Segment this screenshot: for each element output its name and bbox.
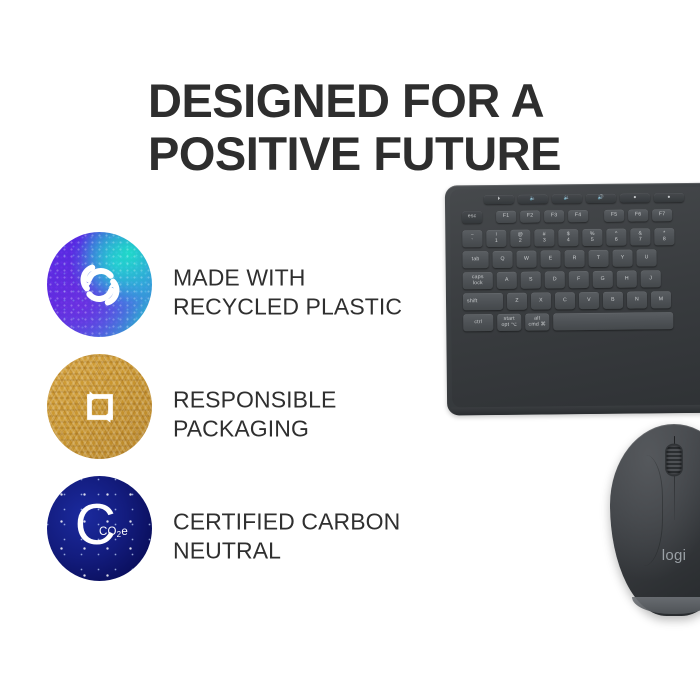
co2e-subscript: 2	[117, 530, 122, 539]
key-shift-left[interactable]: shift	[463, 293, 503, 310]
keyboard-modifier-row: ctrl startopt ⌥ altcmd ⌘	[463, 312, 673, 331]
keyboard-deck: ⏵ 🔈 🔉 🔊 ● ● esc F1 F2 F3 F4 F5 F6	[450, 186, 700, 407]
key-2[interactable]: @2	[510, 230, 530, 247]
co2e-suffix: e	[121, 526, 128, 538]
product-photo: ⏵ 🔈 🔉 🔊 ● ● esc F1 F2 F3 F4 F5 F6	[440, 176, 700, 646]
key-6[interactable]: ^6	[606, 229, 626, 246]
feature-label-certified-carbon-neutral: CERTIFIED CARBON NEUTRAL	[173, 508, 400, 567]
scroll-wheel[interactable]	[667, 445, 682, 475]
keyboard-bottom-letter-row: shift Z X C V B N M	[463, 291, 671, 310]
keyboard-front-edge	[451, 404, 700, 415]
key-x[interactable]: X	[531, 292, 551, 309]
key-b[interactable]: B	[603, 292, 623, 309]
feature-item-responsible-packaging: RESPONSIBLE PACKAGING	[47, 354, 447, 476]
feature-item-certified-carbon-neutral: C CO2e CERTIFIED CARBON NEUTRAL	[47, 476, 447, 598]
co2e-label: CO2e	[99, 526, 128, 538]
key-media-mute[interactable]: 🔈	[518, 194, 548, 203]
key-m[interactable]: M	[651, 291, 671, 308]
feature-label-recycled-plastic: MADE WITH RECYCLED PLASTIC	[173, 264, 402, 323]
key-5[interactable]: %5	[582, 229, 602, 246]
key-media-volup[interactable]: 🔊	[586, 194, 616, 203]
key-e[interactable]: E	[540, 250, 560, 267]
key-g[interactable]: G	[593, 271, 613, 288]
key-f6[interactable]: F6	[628, 209, 648, 221]
key-alt-cmd[interactable]: altcmd ⌘	[525, 313, 549, 330]
key-a[interactable]: A	[497, 272, 517, 289]
key-1[interactable]: !1	[486, 230, 506, 247]
key-z[interactable]: Z	[507, 293, 527, 310]
key-4[interactable]: $4	[558, 229, 578, 246]
feature-label-responsible-packaging: RESPONSIBLE PACKAGING	[173, 386, 336, 445]
key-w[interactable]: W	[516, 251, 536, 268]
keyboard-home-row: capslock A S D F G H J	[463, 270, 661, 289]
key-r[interactable]: R	[564, 250, 584, 267]
key-c[interactable]: C	[555, 292, 575, 309]
co2e-prefix: CO	[99, 526, 117, 538]
key-start-opt[interactable]: startopt ⌥	[497, 314, 521, 331]
key-media-play[interactable]: ⏵	[484, 195, 514, 204]
recycled-plastic-loop-icon	[47, 232, 152, 337]
key-f2[interactable]: F2	[520, 211, 540, 223]
key-f4[interactable]: F4	[568, 210, 588, 222]
keyboard-qwerty-row: tab Q W E R T Y U	[462, 249, 656, 268]
wireless-keyboard: ⏵ 🔈 🔉 🔊 ● ● esc F1 F2 F3 F4 F5 F6	[445, 182, 700, 415]
key-spacebar[interactable]	[553, 312, 673, 330]
key-u[interactable]: U	[636, 249, 656, 266]
key-3[interactable]: #3	[534, 229, 554, 246]
key-s[interactable]: S	[521, 272, 541, 289]
key-v[interactable]: V	[579, 292, 599, 309]
keyboard-media-row: ⏵ 🔈 🔉 🔊 ● ●	[484, 193, 684, 204]
key-t[interactable]: T	[588, 250, 608, 267]
mouse-base-trim	[632, 597, 700, 614]
recycled-plastic-badge	[47, 232, 152, 337]
feature-item-recycled-plastic: MADE WITH RECYCLED PLASTIC	[47, 232, 447, 354]
logi-wordmark: logi	[662, 547, 687, 564]
wireless-mouse: logi	[610, 424, 700, 616]
key-f5[interactable]: F5	[604, 210, 624, 222]
key-media-extra-2[interactable]: ●	[654, 193, 684, 202]
key-caps-lock[interactable]: capslock	[463, 272, 493, 289]
key-media-voldown[interactable]: 🔉	[552, 194, 582, 203]
key-tab[interactable]: tab	[462, 251, 488, 268]
key-f7[interactable]: F7	[652, 209, 672, 221]
page-title: DESIGNED FOR A POSITIVE FUTURE	[148, 75, 668, 180]
keyboard-number-row: ~` !1 @2 #3 $4 %5 ^6 &7 *8	[462, 228, 674, 247]
key-7[interactable]: &7	[630, 228, 650, 245]
responsible-packaging-badge	[47, 354, 152, 459]
mouse-left-button-seam	[619, 455, 664, 566]
key-f3[interactable]: F3	[544, 210, 564, 222]
sustainability-feature-list: MADE WITH RECYCLED PLASTIC	[47, 232, 447, 598]
product-feature-panel: DESIGNED FOR A POSITIVE FUTURE	[0, 0, 700, 700]
key-h[interactable]: H	[617, 271, 637, 288]
key-f1[interactable]: F1	[496, 211, 516, 223]
keyboard-function-row: esc F1 F2 F3 F4 F5 F6 F7	[462, 209, 672, 223]
key-8[interactable]: *8	[654, 228, 674, 245]
packaging-box-loop-icon	[47, 354, 152, 459]
key-n[interactable]: N	[627, 291, 647, 308]
key-d[interactable]: D	[545, 271, 565, 288]
key-media-extra-1[interactable]: ●	[620, 193, 650, 202]
key-f[interactable]: F	[569, 271, 589, 288]
key-y[interactable]: Y	[612, 250, 632, 267]
key-j[interactable]: J	[641, 270, 661, 287]
key-esc[interactable]: esc	[462, 211, 482, 223]
key-ctrl-left[interactable]: ctrl	[463, 314, 493, 331]
carbon-neutral-badge: C CO2e	[47, 476, 152, 581]
key-q[interactable]: Q	[492, 251, 512, 268]
key-tilde[interactable]: ~`	[462, 230, 482, 247]
